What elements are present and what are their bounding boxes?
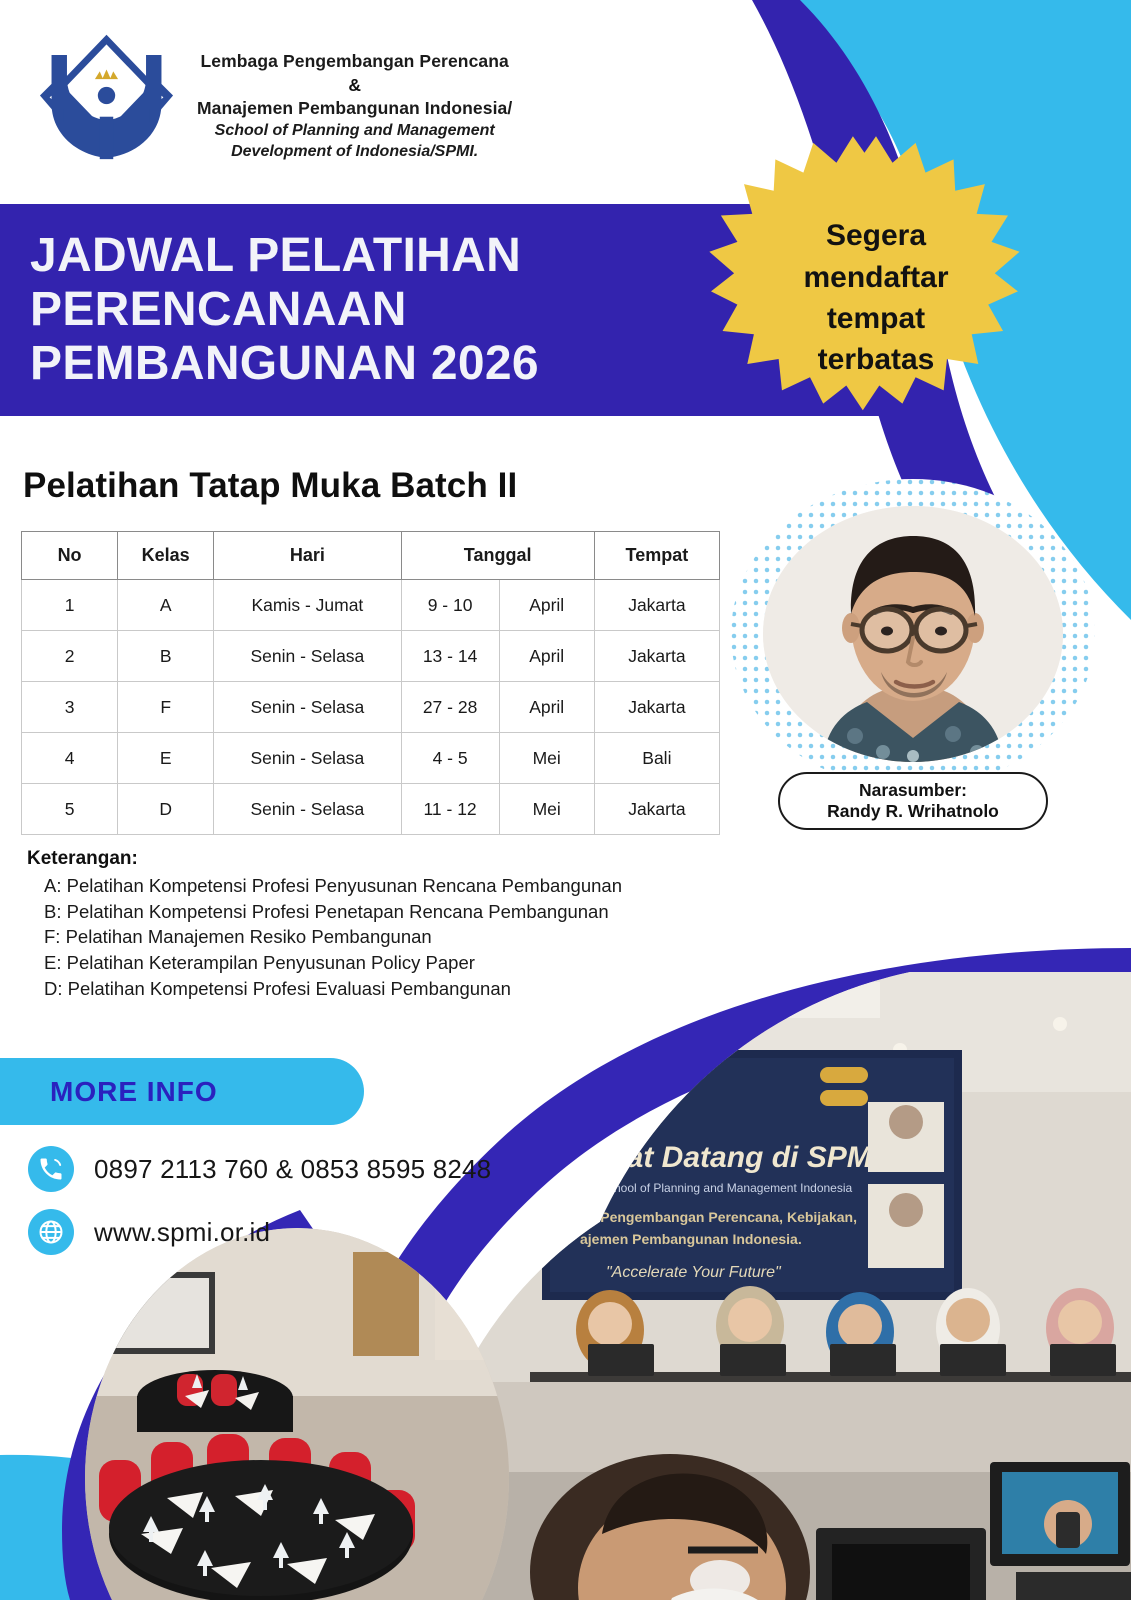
cell-tempat: Jakarta	[594, 580, 719, 631]
more-info-pill: MORE INFO	[0, 1058, 364, 1125]
speaker-role-label: Narasumber:	[859, 780, 967, 801]
cell-hari: Senin - Selasa	[214, 631, 401, 682]
th-kelas: Kelas	[118, 532, 214, 580]
badge-line-2: mendaftar	[803, 260, 948, 295]
cell-no: 2	[22, 631, 118, 682]
logo-line-2: Manajemen Pembangunan Indonesia/	[197, 97, 512, 121]
schedule-table-head: No Kelas Hari Tanggal Tempat	[22, 532, 720, 580]
cell-tempat: Jakarta	[594, 631, 719, 682]
cell-bulan: April	[499, 682, 594, 733]
website-url-text: www.spmi.or.id	[94, 1217, 270, 1248]
badge-line-1: Segera	[826, 218, 926, 253]
logo-line-1: Lembaga Pengembangan Perencana	[197, 50, 512, 74]
cell-no: 1	[22, 580, 118, 631]
keterangan-item: F: Pelatihan Manajemen Resiko Pembanguna…	[27, 924, 622, 950]
cell-tempat: Jakarta	[594, 682, 719, 733]
contact-list: 0897 2113 760 & 0853 8595 8248 www.spmi.…	[28, 1146, 491, 1272]
avatar	[763, 506, 1063, 762]
cell-kelas: F	[118, 682, 214, 733]
phone-number-text: 0897 2113 760 & 0853 8595 8248	[94, 1154, 491, 1185]
svg-text:School of Planning and Managem: School of Planning and Management Indone…	[600, 1181, 853, 1195]
th-no: No	[22, 532, 118, 580]
cell-bulan: April	[499, 631, 594, 682]
logo-subtitle-1: School of Planning and Management	[197, 121, 512, 142]
cell-tanggal: 13 - 14	[401, 631, 499, 682]
cell-hari: Senin - Selasa	[214, 682, 401, 733]
section-heading: Pelatihan Tatap Muka Batch II	[23, 466, 517, 506]
cell-tempat: Jakarta	[594, 784, 719, 835]
cell-hari: Senin - Selasa	[214, 784, 401, 835]
starburst-text: Segera mendaftar tempat terbatas	[706, 133, 1046, 463]
svg-text:ga Pengembangan Perencana, Keb: ga Pengembangan Perencana, Kebijakan,	[580, 1209, 857, 1225]
badge-line-3: tempat	[827, 301, 925, 336]
keterangan-title: Keterangan:	[27, 848, 622, 870]
table-row: 3 F Senin - Selasa 27 - 28 April Jakarta	[22, 682, 720, 733]
cell-no: 3	[22, 682, 118, 733]
spmi-logo-icon	[34, 28, 179, 163]
more-info-label: MORE INFO	[0, 1076, 218, 1108]
badge-line-4: terbatas	[818, 342, 935, 377]
cell-tempat: Bali	[594, 733, 719, 784]
cell-hari: Kamis - Jumat	[214, 580, 401, 631]
cell-bulan: Mei	[499, 733, 594, 784]
registration-starburst-badge: Segera mendaftar tempat terbatas	[706, 133, 1046, 463]
phone-icon	[28, 1146, 74, 1192]
cell-no: 5	[22, 784, 118, 835]
th-hari: Hari	[214, 532, 401, 580]
cell-no: 4	[22, 733, 118, 784]
svg-text:"Accelerate Your Future": "Accelerate Your Future"	[606, 1264, 782, 1281]
table-row: 1 A Kamis - Jumat 9 - 10 April Jakarta	[22, 580, 720, 631]
cell-kelas: D	[118, 784, 214, 835]
keterangan-item: D: Pelatihan Kompetensi Profesi Evaluasi…	[27, 976, 622, 1002]
keterangan-item: B: Pelatihan Kompetensi Profesi Penetapa…	[27, 899, 622, 925]
cell-kelas: E	[118, 733, 214, 784]
table-header-row: No Kelas Hari Tanggal Tempat	[22, 532, 720, 580]
speaker-name: Randy R. Wrihatnolo	[827, 801, 999, 822]
th-tanggal: Tanggal	[401, 532, 594, 580]
cell-hari: Senin - Selasa	[214, 733, 401, 784]
logo-subtitle-2: Development of Indonesia/SPMI.	[197, 142, 512, 163]
contact-row-phone[interactable]: 0897 2113 760 & 0853 8595 8248	[28, 1146, 491, 1192]
schedule-table-body: 1 A Kamis - Jumat 9 - 10 April Jakarta 2…	[22, 580, 720, 835]
cell-kelas: B	[118, 631, 214, 682]
table-row: 4 E Senin - Selasa 4 - 5 Mei Bali	[22, 733, 720, 784]
brand-logo-text: Lembaga Pengembangan Perencana & Manajem…	[197, 28, 512, 162]
cell-bulan: Mei	[499, 784, 594, 835]
schedule-table-wrapper: No Kelas Hari Tanggal Tempat 1 A Kamis -…	[21, 531, 720, 835]
cell-tanggal: 11 - 12	[401, 784, 499, 835]
th-tempat: Tempat	[594, 532, 719, 580]
speaker-portrait-image	[763, 506, 1063, 762]
brand-logo-block: Lembaga Pengembangan Perencana & Manajem…	[34, 28, 512, 163]
globe-icon	[28, 1209, 74, 1255]
speaker-block: Narasumber: Randy R. Wrihatnolo	[731, 479, 1095, 789]
cell-bulan: April	[499, 580, 594, 631]
logo-ampersand: &	[197, 74, 512, 98]
schedule-table: No Kelas Hari Tanggal Tempat 1 A Kamis -…	[21, 531, 720, 835]
speaker-name-badge: Narasumber: Randy R. Wrihatnolo	[778, 772, 1048, 830]
keterangan-item: A: Pelatihan Kompetensi Profesi Penyusun…	[27, 873, 622, 899]
contact-row-website[interactable]: www.spmi.or.id	[28, 1209, 491, 1255]
speaker-dotted-ring	[731, 479, 1095, 789]
svg-text:ajemen Pembangunan Indonesia.: ajemen Pembangunan Indonesia.	[580, 1231, 802, 1247]
keterangan-block: Keterangan: A: Pelatihan Kompetensi Prof…	[27, 848, 622, 1002]
cell-tanggal: 27 - 28	[401, 682, 499, 733]
cell-tanggal: 4 - 5	[401, 733, 499, 784]
table-row: 2 B Senin - Selasa 13 - 14 April Jakarta	[22, 631, 720, 682]
table-row: 5 D Senin - Selasa 11 - 12 Mei Jakarta	[22, 784, 720, 835]
page-title: JADWAL PELATIHAN PERENCANAAN PEMBANGUNAN…	[0, 229, 539, 390]
cell-tanggal: 9 - 10	[401, 580, 499, 631]
cell-kelas: A	[118, 580, 214, 631]
keterangan-item: E: Pelatihan Keterampilan Penyusunan Pol…	[27, 950, 622, 976]
